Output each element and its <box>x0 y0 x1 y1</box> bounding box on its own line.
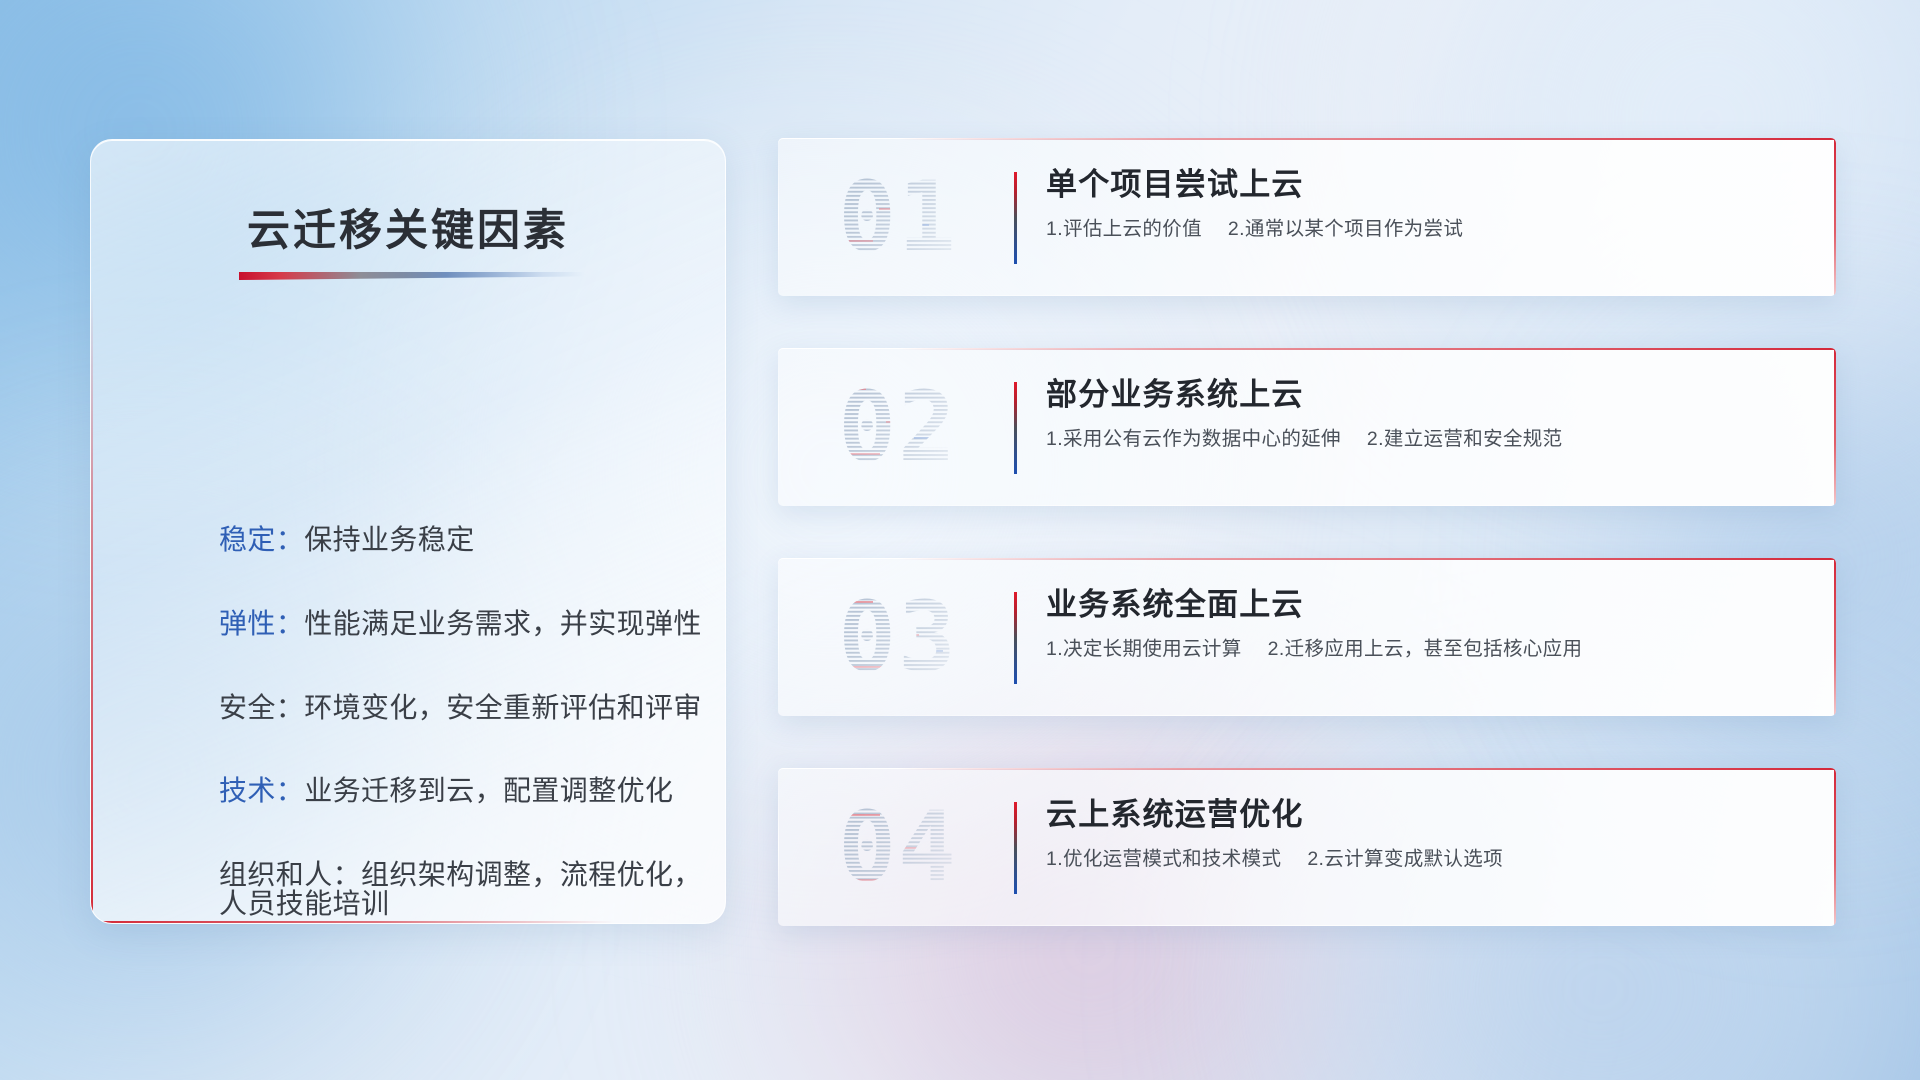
factor-text: 性能满足业务需求，并实现弹性 <box>304 608 702 639</box>
card-description-item-2: 2.云计算变成默认选项 <box>1307 848 1503 870</box>
card-left-highlight-edge <box>778 778 779 916</box>
card-description-item-1: 1.决定长期使用云计算 <box>1046 638 1242 660</box>
factor-text: 保持业务稳定 <box>304 524 474 555</box>
factor-text: 业务迁移到云，配置调整优化 <box>304 775 673 806</box>
factor-text: 环境变化，安全重新评估和评审 <box>304 692 702 723</box>
card-bottom-highlight-edge <box>786 715 1836 716</box>
card-description-item-2: 2.迁移应用上云，甚至包括核心应用 <box>1268 638 1583 660</box>
card-body: 云上系统运营优化1.优化运营模式和技术模式2.云计算变成默认选项 <box>1046 796 1796 873</box>
card-top-red-edge <box>898 138 1836 140</box>
card-right-red-edge <box>1834 558 1836 716</box>
step-number-watermark: 03 <box>808 578 988 696</box>
migration-stage-card-list: 01单个项目尝试上云1.评估上云的价值2.通常以某个项目作为尝试02部分业务系统… <box>778 138 1836 926</box>
factor-list: 稳定：保持业务稳定弹性：性能满足业务需求，并实现弹性安全：环境变化，安全重新评估… <box>219 520 681 895</box>
card-description: 1.优化运营模式和技术模式2.云计算变成默认选项 <box>1046 846 1796 872</box>
card-description-item-1: 1.采用公有云作为数据中心的延伸 <box>1046 428 1341 450</box>
card-description-item-2: 2.通常以某个项目作为尝试 <box>1228 218 1463 240</box>
factor-label: 弹性： <box>219 608 304 639</box>
card-accent-bar <box>1014 802 1017 894</box>
card-description: 1.决定长期使用云计算2.迁移应用上云，甚至包括核心应用 <box>1046 636 1796 662</box>
card-bottom-highlight-edge <box>786 925 1836 926</box>
migration-stage-card[interactable]: 02部分业务系统上云1.采用公有云作为数据中心的延伸2.建立运营和安全规范 <box>778 348 1836 506</box>
migration-stage-card[interactable]: 01单个项目尝试上云1.评估上云的价值2.通常以某个项目作为尝试 <box>778 138 1836 296</box>
card-right-red-edge <box>1834 768 1836 926</box>
page-title: 云迁移关键因素 <box>91 196 725 258</box>
card-accent-bar <box>1014 172 1017 264</box>
factor-row: 技术：业务迁移到云，配置调整优化 <box>219 771 681 811</box>
card-title: 云上系统运营优化 <box>1046 796 1796 833</box>
card-accent-bar <box>1014 592 1017 684</box>
factor-row: 弹性：性能满足业务需求，并实现弹性 <box>219 604 681 644</box>
step-number-watermark: 04 <box>808 788 988 906</box>
card-right-red-edge <box>1834 138 1836 296</box>
card-body: 部分业务系统上云1.采用公有云作为数据中心的延伸2.建立运营和安全规范 <box>1046 376 1796 453</box>
card-right-red-edge <box>1834 348 1836 506</box>
card-description: 1.采用公有云作为数据中心的延伸2.建立运营和安全规范 <box>1046 426 1796 452</box>
factor-row: 稳定：保持业务稳定 <box>219 520 681 560</box>
card-left-highlight-edge <box>778 568 779 706</box>
factor-row: 安全：环境变化，安全重新评估和评审 <box>219 688 681 728</box>
migration-stage-card[interactable]: 04云上系统运营优化1.优化运营模式和技术模式2.云计算变成默认选项 <box>778 768 1836 926</box>
slide-stage: 云迁移关键因素 稳定：保持业务稳定弹性：性能满足业务需求，并实现弹性安全：环境变… <box>0 0 1920 1080</box>
card-bottom-highlight-edge <box>786 295 1836 296</box>
card-accent-bar <box>1014 382 1017 474</box>
factor-label: 安全： <box>219 692 304 723</box>
card-title: 部分业务系统上云 <box>1046 376 1796 413</box>
card-top-red-edge <box>898 558 1836 560</box>
card-title: 业务系统全面上云 <box>1046 586 1796 623</box>
key-factors-panel: 云迁移关键因素 稳定：保持业务稳定弹性：性能满足业务需求，并实现弹性安全：环境变… <box>90 139 726 924</box>
title-underline-bar <box>239 272 584 280</box>
card-body: 单个项目尝试上云1.评估上云的价值2.通常以某个项目作为尝试 <box>1046 166 1796 243</box>
card-left-highlight-edge <box>778 358 779 496</box>
card-top-red-edge <box>898 348 1836 350</box>
card-bottom-highlight-edge <box>786 505 1836 506</box>
factor-label: 技术： <box>219 775 304 806</box>
factor-label: 稳定： <box>219 524 304 555</box>
card-title: 单个项目尝试上云 <box>1046 166 1796 203</box>
card-description-item-1: 1.优化运营模式和技术模式 <box>1046 848 1281 870</box>
card-body: 业务系统全面上云1.决定长期使用云计算2.迁移应用上云，甚至包括核心应用 <box>1046 586 1796 663</box>
factor-list-continuation: 人员技能培训 <box>219 882 389 922</box>
panel-left-red-edge <box>91 290 93 923</box>
title-underline-gradient <box>239 272 584 280</box>
step-number-watermark: 01 <box>808 158 988 276</box>
card-top-red-edge <box>898 768 1836 770</box>
card-description: 1.评估上云的价值2.通常以某个项目作为尝试 <box>1046 216 1796 242</box>
migration-stage-card[interactable]: 03业务系统全面上云1.决定长期使用云计算2.迁移应用上云，甚至包括核心应用 <box>778 558 1836 716</box>
card-left-highlight-edge <box>778 148 779 286</box>
step-number-watermark: 02 <box>808 368 988 486</box>
card-description-item-2: 2.建立运营和安全规范 <box>1367 428 1563 450</box>
factor-text: 组织架构调整，流程优化， <box>361 859 702 890</box>
card-description-item-1: 1.评估上云的价值 <box>1046 218 1202 240</box>
